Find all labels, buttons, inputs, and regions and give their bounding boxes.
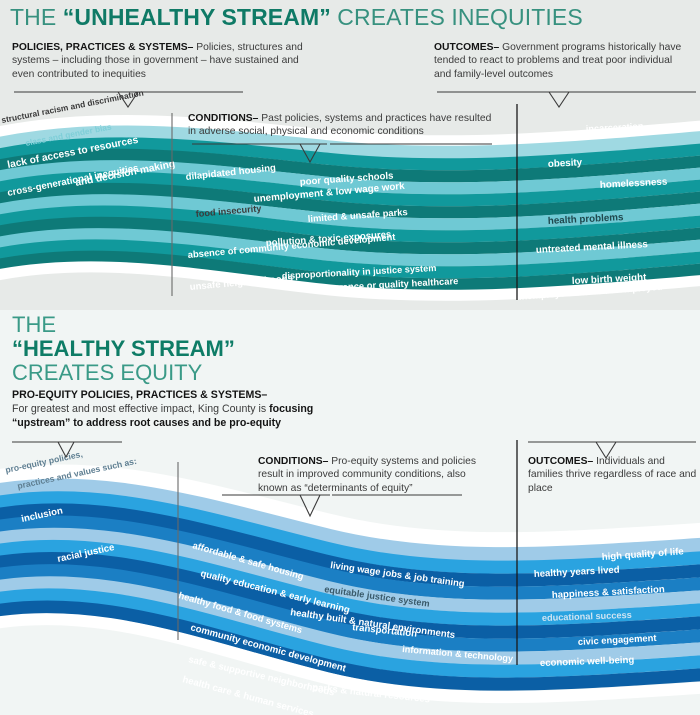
healthy-conditions-heading: CONDITIONS– bbox=[258, 456, 328, 467]
healthy-title: THE “HEALTHY STREAM” CREATES EQUITY bbox=[12, 313, 235, 384]
outcomes-pointer bbox=[437, 92, 696, 107]
outcomes-heading: OUTCOMES– bbox=[434, 42, 499, 53]
proequity-pointer bbox=[12, 442, 122, 457]
healthy-title-line3: CREATES EQUITY bbox=[12, 361, 235, 385]
conditions-heading: CONDITIONS– bbox=[188, 113, 258, 124]
healthy-outcomes-heading: OUTCOMES– bbox=[528, 456, 593, 467]
healthy-title-line2: “HEALTHY STREAM” bbox=[12, 337, 235, 361]
unhealthy-title: THE “UNHEALTHY STREAM” CREATES INEQUITIE… bbox=[10, 4, 583, 31]
proequity-body-bold-2: “upstream” to address root causes and be… bbox=[12, 417, 281, 429]
stream-label: good health bbox=[548, 529, 600, 539]
healthy-outcomes-header: OUTCOMES– Individuals and families thriv… bbox=[528, 455, 698, 495]
healthy-conditions-header: CONDITIONS– Pro-equity systems and polic… bbox=[258, 455, 490, 495]
stream-label: obesity bbox=[548, 157, 583, 170]
proequity-heading: PRO-EQUITY POLICIES, PRACTICES & SYSTEMS… bbox=[12, 389, 267, 401]
policies-header: POLICIES, PRACTICES & SYSTEMS– Policies,… bbox=[12, 41, 312, 81]
unhealthy-title-suffix: CREATES INEQUITIES bbox=[331, 4, 583, 30]
conditions-header: CONDITIONS– Past policies, systems and p… bbox=[188, 112, 498, 139]
proequity-header: PRO-EQUITY POLICIES, PRACTICES & SYSTEMS… bbox=[12, 388, 342, 430]
unhealthy-title-bold: “UNHEALTHY STREAM” bbox=[63, 4, 331, 30]
outcomes-header: OUTCOMES– Government programs historical… bbox=[434, 41, 692, 81]
healthy-title-line1: THE bbox=[12, 313, 235, 337]
unhealthy-title-prefix: THE bbox=[10, 4, 63, 30]
policies-heading: POLICIES, PRACTICES & SYSTEMS– bbox=[12, 42, 193, 53]
proequity-body-bold-1: focusing bbox=[269, 403, 313, 415]
proequity-body-1: For greatest and most effective impact, … bbox=[12, 403, 269, 415]
